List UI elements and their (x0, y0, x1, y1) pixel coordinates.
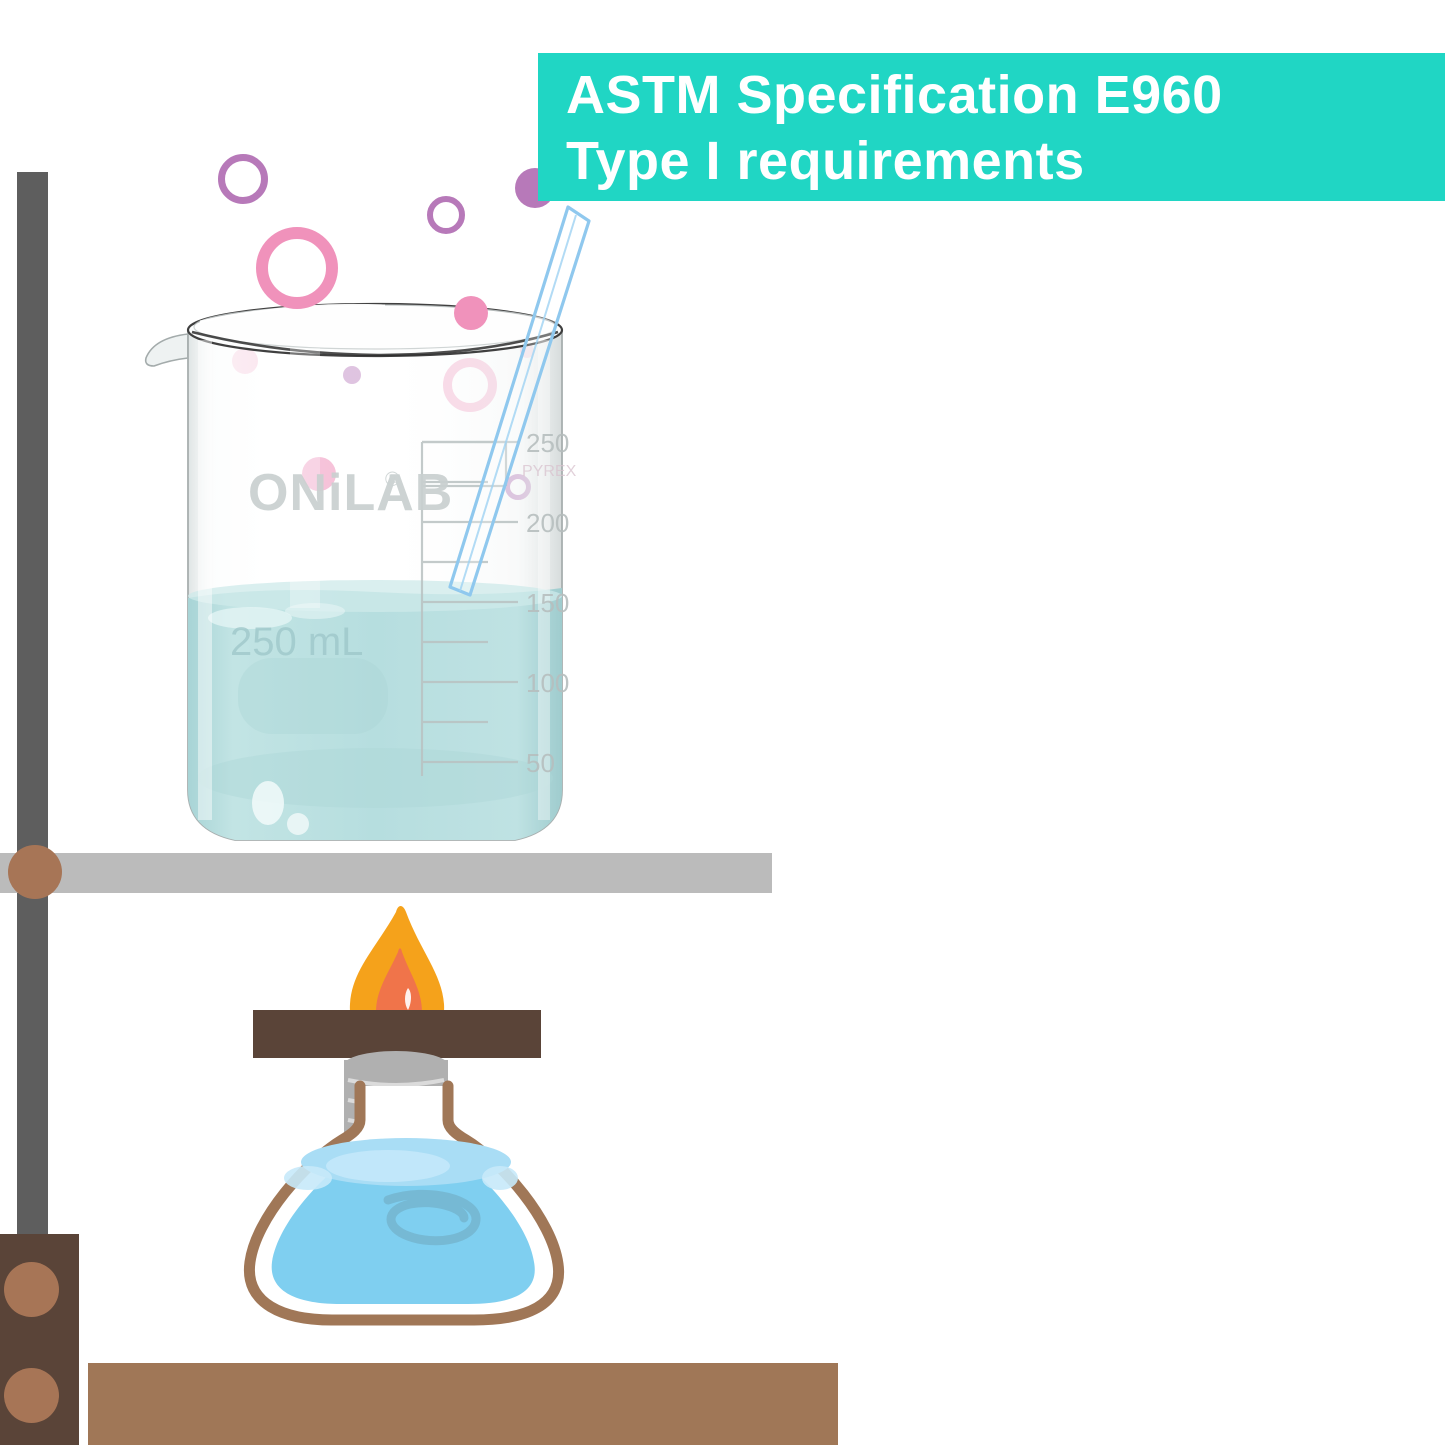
stand-base-bolt-lower (4, 1368, 59, 1423)
graduation-label-250: 250 (526, 428, 569, 458)
beaker-brand-label: ONiLAB (248, 464, 453, 522)
beaker-liquid (188, 580, 562, 840)
graduation-label-50: 50 (526, 748, 555, 778)
beaker-secondary-label: PYREX (522, 463, 577, 480)
ring-pink-xl (256, 227, 338, 309)
graduation-label-100: 100 (526, 668, 569, 698)
beaker-trademark-icon: ® (385, 469, 400, 491)
beaker-spout (146, 334, 188, 366)
dot-pink-md (454, 296, 488, 330)
glass-beaker: 250 200 150 100 50 PYREX ONiLAB ® 250 mL (140, 300, 610, 860)
banner-line-1: ASTM Specification E960 (566, 62, 1445, 128)
ring-purple-sm (427, 196, 465, 234)
banner-line-2: Type I requirements (566, 128, 1445, 194)
illustration-canvas: 250 200 150 100 50 PYREX ONiLAB ® 250 mL (0, 0, 1445, 1445)
stand-clamp-knob (8, 845, 62, 899)
burner-cap-bar (253, 1010, 541, 1058)
beaker-capacity-label: 250 mL (230, 620, 363, 664)
retort-stand-rod (17, 172, 48, 1267)
lab-bench-top (88, 1363, 838, 1445)
ring-purple-lg (218, 154, 268, 204)
graduation-label-150: 150 (526, 588, 569, 618)
stand-base-bolt-upper (4, 1262, 59, 1317)
alcohol-burner (228, 900, 618, 1370)
title-banner: ASTM Specification E960 Type I requireme… (538, 53, 1445, 201)
graduation-label-200: 200 (526, 508, 569, 538)
